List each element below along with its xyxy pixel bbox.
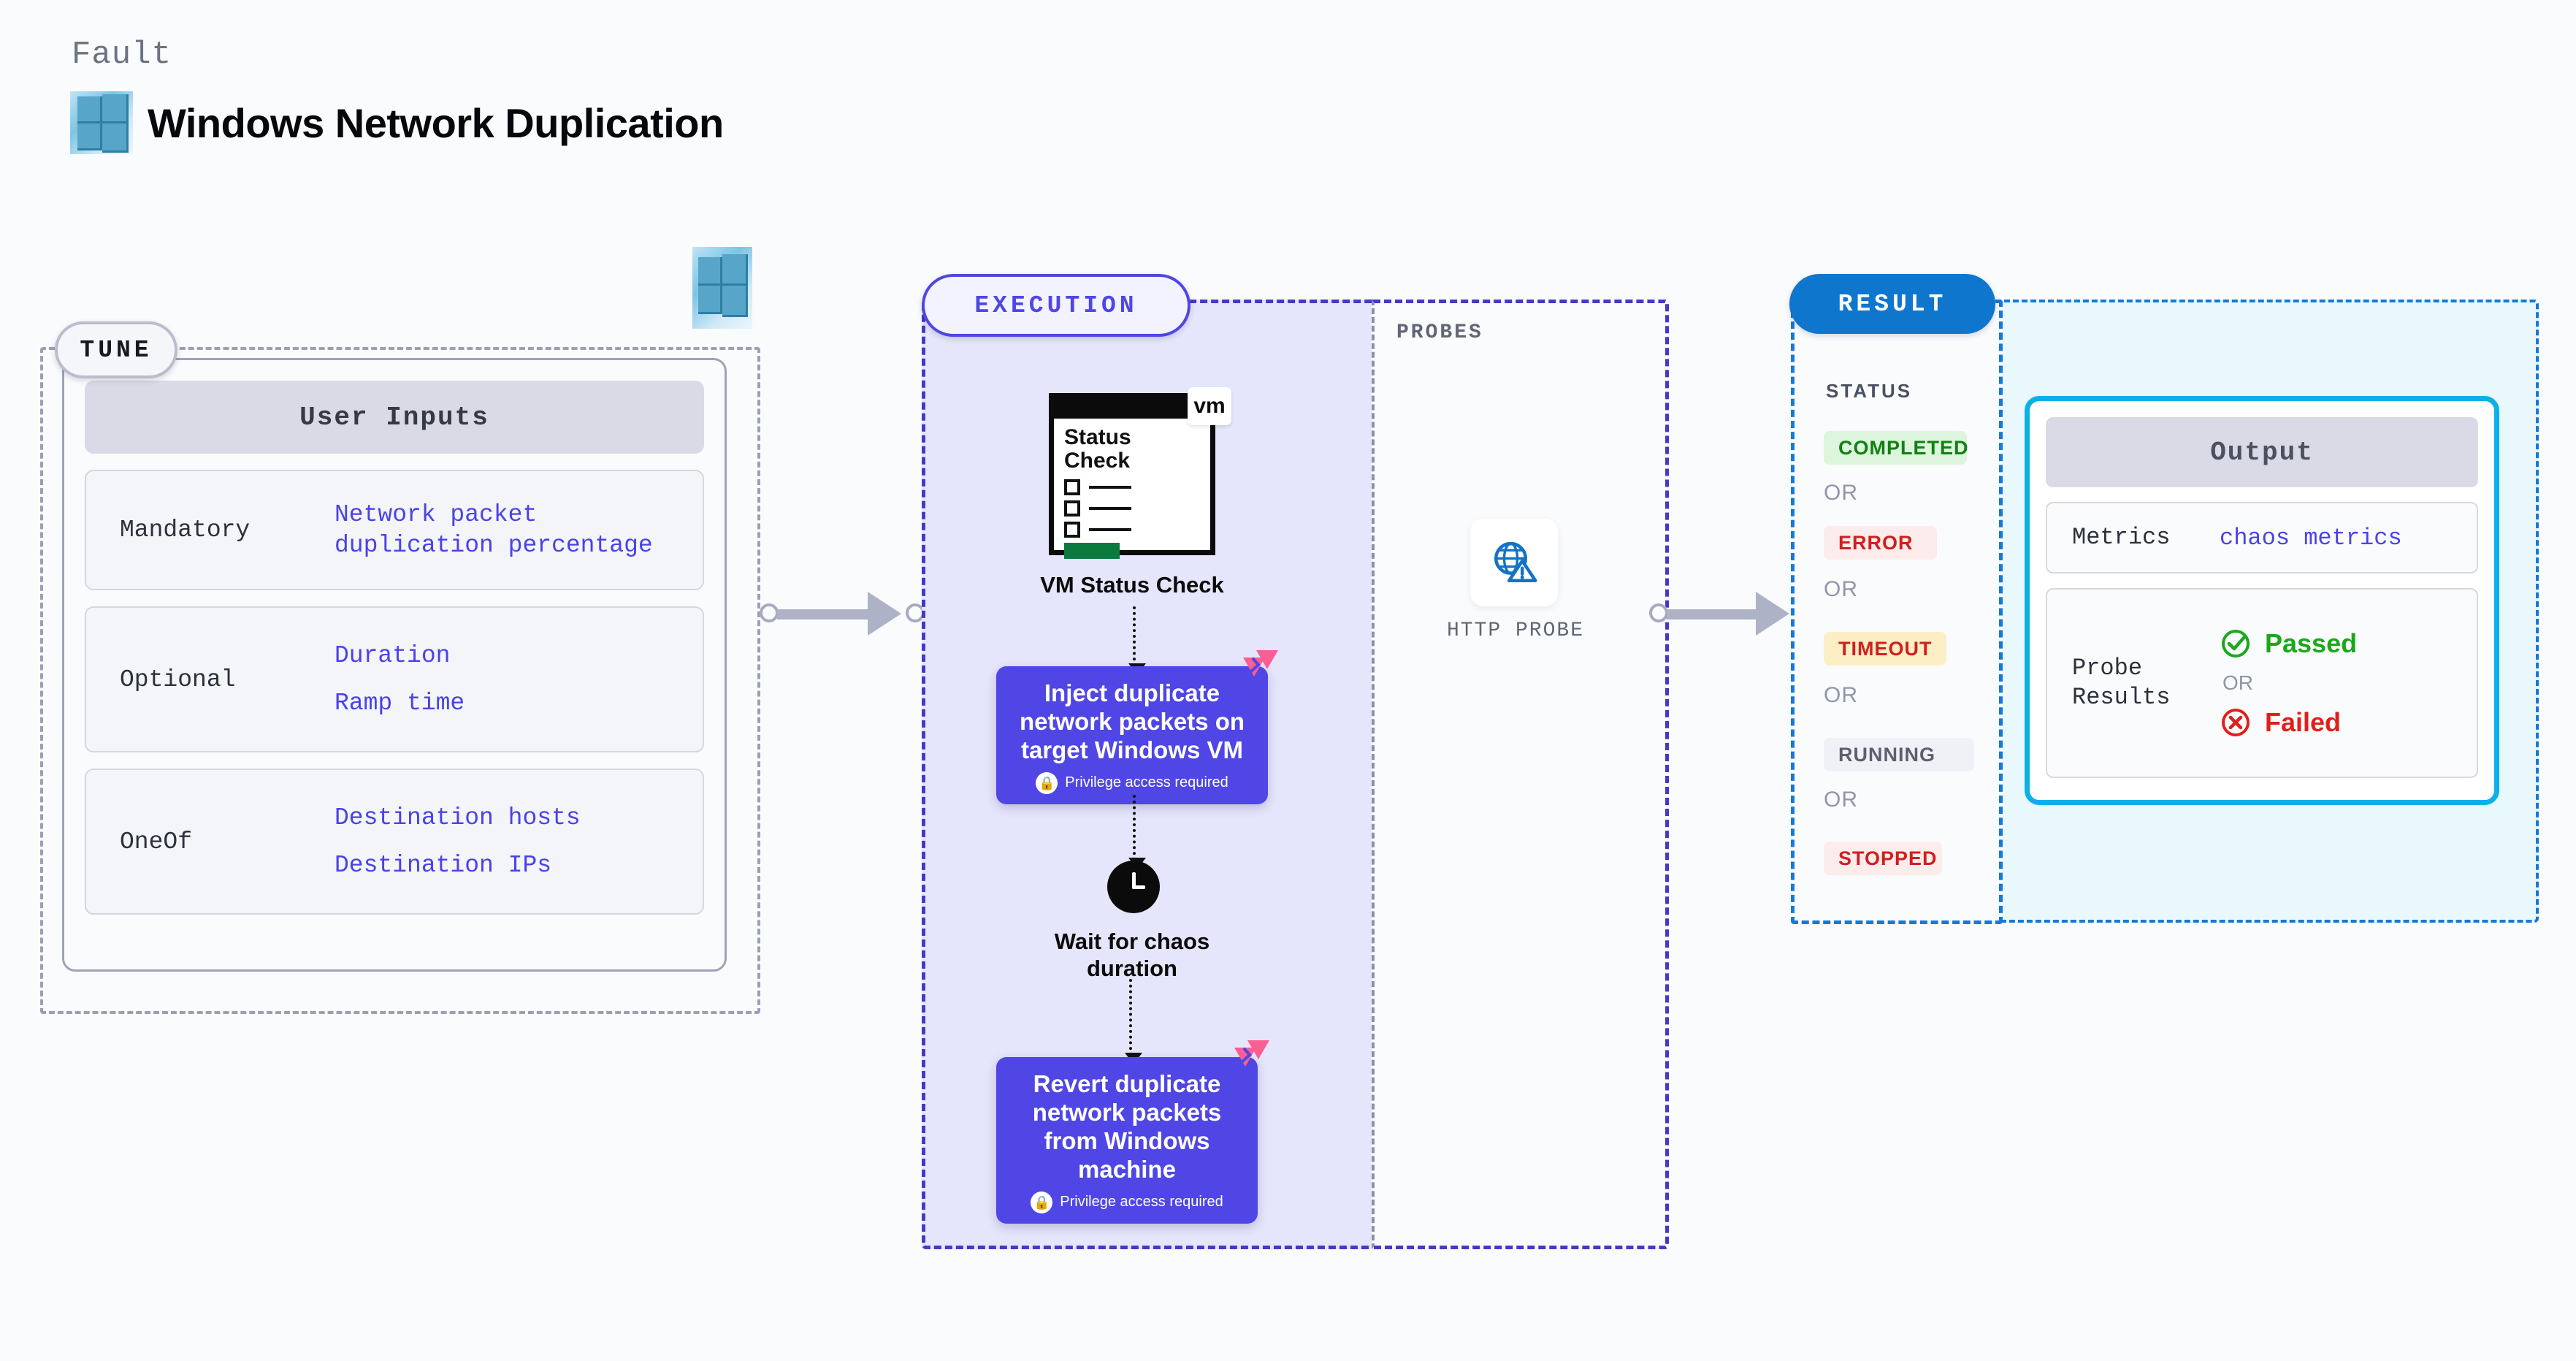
privilege-note: 🔒 Privilege access required bbox=[1014, 1192, 1240, 1213]
input-value[interactable]: Destination hosts bbox=[335, 803, 695, 833]
input-group-values: Destination hosts Destination IPs bbox=[335, 803, 695, 881]
output-card: Output Metrics chaos metrics Probe Resul… bbox=[2025, 396, 2499, 805]
input-group-optional: Optional Duration Ramp time bbox=[85, 606, 704, 752]
or-separator: OR bbox=[2223, 671, 2472, 695]
x-circle-icon bbox=[2220, 706, 2252, 739]
probe-failed-label: Failed bbox=[2265, 707, 2341, 738]
stage-chip-execution[interactable]: EXECUTION bbox=[922, 274, 1190, 337]
action-inject-box[interactable]: Inject duplicate network packets on targ… bbox=[996, 666, 1268, 804]
metrics-label: Metrics bbox=[2052, 523, 2220, 552]
input-value[interactable]: Network packet bbox=[335, 500, 695, 530]
privilege-note-text: Privilege access required bbox=[1060, 1194, 1223, 1211]
page-title-row: Windows Network Duplication bbox=[70, 91, 724, 154]
lock-icon: 🔒 bbox=[1031, 1192, 1052, 1213]
globe-warning-icon[interactable] bbox=[1470, 519, 1558, 606]
privilege-note: 🔒 Privilege access required bbox=[1014, 772, 1250, 794]
action-inject-title: Inject duplicate network packets on targ… bbox=[1014, 679, 1250, 765]
status-badge-timeout: TIMEOUT bbox=[1824, 632, 1946, 666]
http-probe-label: HTTP PROBE bbox=[1417, 619, 1614, 642]
input-group-label: OneOf bbox=[93, 828, 335, 855]
user-inputs-header: User Inputs bbox=[85, 381, 704, 454]
probe-results-label: Probe Results bbox=[2052, 654, 2220, 712]
user-inputs-card: User Inputs Mandatory Network packet dup… bbox=[62, 358, 727, 972]
litmus-chaos-badge-icon bbox=[1226, 1040, 1269, 1078]
or-separator: OR bbox=[1824, 577, 1858, 602]
input-value[interactable]: Destination IPs bbox=[335, 850, 695, 880]
probe-passed-label: Passed bbox=[2265, 628, 2357, 659]
action-revert-box[interactable]: Revert duplicate network packets from Wi… bbox=[996, 1057, 1258, 1224]
or-separator: OR bbox=[1824, 481, 1858, 506]
probe-result-failed: Failed bbox=[2220, 706, 2472, 739]
page-title: Windows Network Duplication bbox=[148, 99, 724, 147]
flow-arrow-down-icon bbox=[1133, 606, 1139, 666]
fault-label: Fault bbox=[72, 37, 172, 73]
probe-result-passed: Passed bbox=[2220, 628, 2472, 660]
stage-chip-tune[interactable]: TUNE bbox=[55, 321, 177, 378]
metrics-value-wrap: chaos metrics bbox=[2220, 525, 2472, 552]
check-circle-icon bbox=[2220, 628, 2252, 660]
input-group-values: Network packet duplication percentage bbox=[335, 500, 695, 560]
input-group-oneof: OneOf Destination hosts Destination IPs bbox=[85, 769, 704, 915]
status-heading: STATUS bbox=[1826, 380, 1912, 403]
output-group-probe-results: Probe Results Passed OR Failed bbox=[2046, 588, 2478, 778]
wait-for-chaos-duration-label: Wait for chaos duration bbox=[1023, 928, 1242, 982]
input-value[interactable]: duplication percentage bbox=[335, 530, 695, 560]
input-value[interactable]: Ramp time bbox=[335, 688, 695, 718]
input-group-values: Duration Ramp time bbox=[335, 641, 695, 719]
probes-subtitle: PROBES bbox=[1396, 321, 1483, 344]
stage-chip-result[interactable]: RESULT bbox=[1789, 274, 1995, 334]
probes-stage-box bbox=[1372, 300, 1669, 1249]
windows-logo-icon bbox=[70, 91, 133, 154]
connector-arrowhead-icon bbox=[868, 592, 901, 636]
or-separator: OR bbox=[1824, 788, 1858, 812]
input-value[interactable]: Duration bbox=[335, 641, 695, 671]
action-revert-title: Revert duplicate network packets from Wi… bbox=[1014, 1070, 1240, 1184]
output-header: Output bbox=[2046, 417, 2478, 487]
vm-icon-progress-bar bbox=[1064, 543, 1120, 559]
output-group-metrics: Metrics chaos metrics bbox=[2046, 502, 2478, 573]
litmus-chaos-badge-icon bbox=[1234, 650, 1278, 688]
connector-tune-to-execution bbox=[760, 577, 929, 650]
metrics-value[interactable]: chaos metrics bbox=[2220, 525, 2472, 552]
clock-icon bbox=[1107, 861, 1160, 913]
status-badge-completed: COMPLETED bbox=[1824, 431, 1967, 465]
probe-results-values: Passed OR Failed bbox=[2220, 628, 2472, 739]
vmware-badge-icon: vm bbox=[1188, 387, 1231, 425]
vm-icon-titlebar bbox=[1054, 398, 1210, 419]
lock-icon: 🔒 bbox=[1036, 772, 1058, 794]
input-group-label: Mandatory bbox=[93, 516, 335, 544]
status-badge-running: RUNNING bbox=[1824, 738, 1974, 771]
vm-status-check-label: VM Status Check bbox=[1037, 572, 1227, 598]
connector-start-dot bbox=[1649, 603, 1668, 622]
flow-arrow-down-icon bbox=[1129, 979, 1135, 1056]
privilege-note-text: Privilege access required bbox=[1065, 774, 1228, 791]
status-badge-error: ERROR bbox=[1824, 526, 1937, 560]
vm-icon-heading: Status Check bbox=[1064, 426, 1210, 472]
or-separator: OR bbox=[1824, 683, 1858, 708]
connector-arrowhead-icon bbox=[1756, 592, 1789, 636]
tune-windows-logo-icon bbox=[692, 247, 752, 329]
flow-arrow-down-icon bbox=[1133, 795, 1139, 861]
vm-icon-checklist bbox=[1064, 479, 1210, 538]
status-badge-stopped: STOPPED bbox=[1824, 842, 1942, 875]
input-group-mandatory: Mandatory Network packet duplication per… bbox=[85, 470, 704, 590]
connector-start-dot bbox=[760, 603, 779, 622]
input-group-label: Optional bbox=[93, 666, 335, 693]
